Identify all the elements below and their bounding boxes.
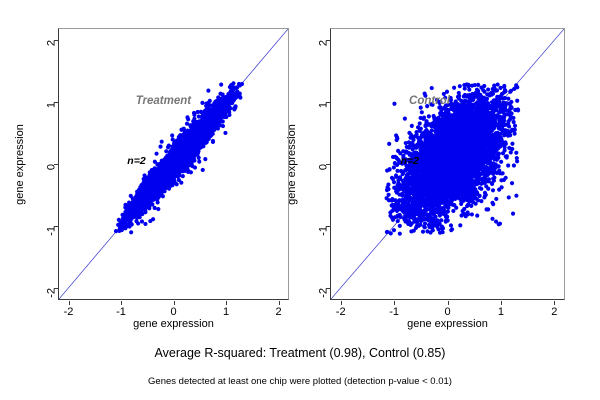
y-axis-tick-label: 2 bbox=[46, 40, 59, 46]
x-axis-title-control: gene expression bbox=[330, 318, 565, 331]
y-axis-control: -2-1012 bbox=[310, 28, 330, 300]
y-axis-tick-label: -2 bbox=[318, 288, 331, 298]
x-axis-tick bbox=[501, 301, 502, 305]
x-axis-tick bbox=[448, 301, 449, 305]
figure-caption-sub: Genes detected at least one chip were pl… bbox=[0, 375, 600, 388]
y-axis-title-treatment: gene expression bbox=[13, 124, 26, 205]
x-axis-tick bbox=[226, 301, 227, 305]
plot-frame-control bbox=[330, 28, 565, 300]
y-axis-tick-label: -2 bbox=[46, 288, 59, 298]
y-axis-treatment: -2-1012 bbox=[38, 28, 58, 300]
plot-panel-treatment: Treatment n=2 bbox=[58, 28, 289, 300]
scatter-figure: Treatment n=2 -2-1012 gene expression -2… bbox=[0, 0, 600, 400]
y-axis-tick-label: 0 bbox=[318, 164, 331, 170]
y-axis-title-control: gene expression bbox=[285, 124, 298, 205]
plot-panel-control: Control n=2 bbox=[330, 28, 565, 300]
scatter-point-cloud bbox=[385, 82, 521, 235]
scatter-canvas-control bbox=[331, 29, 564, 299]
figure-caption-main: Average R-squared: Treatment (0.98), Con… bbox=[0, 345, 600, 361]
plot-frame-treatment bbox=[58, 28, 289, 300]
scatter-point-cloud bbox=[114, 81, 244, 234]
x-axis-tick bbox=[554, 301, 555, 305]
x-axis-tick bbox=[394, 301, 395, 305]
x-axis-tick bbox=[121, 301, 122, 305]
scatter-points bbox=[385, 82, 521, 235]
scatter-points bbox=[114, 81, 244, 234]
y-axis-tick-label: 0 bbox=[46, 164, 59, 170]
y-axis-tick-label: 2 bbox=[318, 40, 331, 46]
x-axis-tick bbox=[69, 301, 70, 305]
y-axis-tick-label: 1 bbox=[46, 102, 59, 108]
x-axis-title-treatment: gene expression bbox=[58, 318, 289, 331]
y-axis-tick-label: 1 bbox=[318, 102, 331, 108]
y-axis-tick-label: -1 bbox=[46, 226, 59, 236]
x-axis-tick bbox=[279, 301, 280, 305]
y-axis-tick-label: -1 bbox=[318, 226, 331, 236]
scatter-canvas-treatment bbox=[59, 29, 288, 299]
x-axis-tick bbox=[341, 301, 342, 305]
x-axis-tick bbox=[174, 301, 175, 305]
